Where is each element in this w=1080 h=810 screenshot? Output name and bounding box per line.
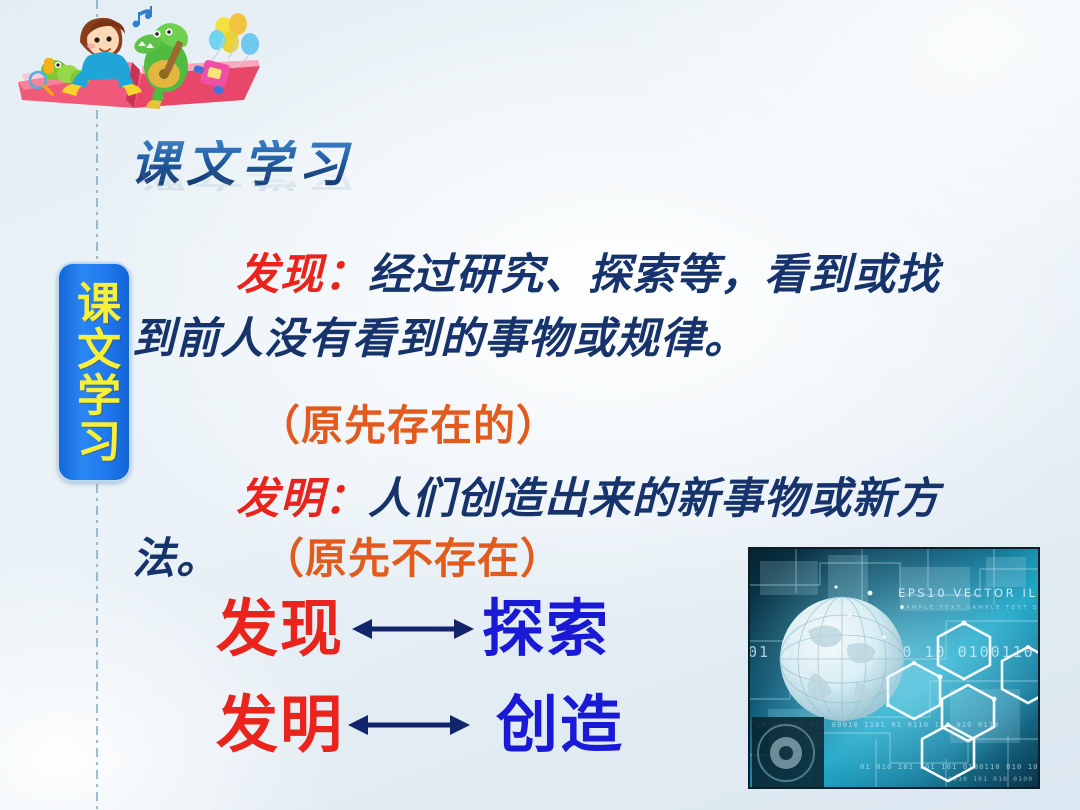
section-label-badge: 课文学习: [57, 262, 131, 482]
photo-caption: EPS10 VECTOR ILLUSTRATION: [898, 586, 1038, 600]
section-label-text: 课文学习: [71, 280, 117, 464]
relation-left-faming: 发明: [216, 694, 344, 756]
definition-two-line-two-row: 法。 （原先不存在）: [132, 528, 732, 592]
relation-left-faxian: 发现: [216, 598, 344, 660]
technology-globe-image: 01 110 011 0 10 10 0100110 010 1010 1010…: [748, 547, 1040, 789]
page-title-reflection: 课文学习: [130, 164, 354, 191]
definition-two-note: （原先不存在）: [262, 533, 563, 586]
definition-two-line-one: 发明：人们创造出来的新事物或新方: [132, 468, 1042, 532]
dial-shape: [752, 717, 824, 787]
definition-one-line-two: 到前人没有看到的事物或规律。: [132, 308, 1042, 372]
svg-text:0010 101 010 0100 10 011 010: 0010 101 010 0100 10 011 010: [948, 775, 1038, 783]
definition-two-block: 发明：人们创造出来的新事物或新方: [132, 468, 1042, 532]
definition-one-block: 发现：经过研究、探索等，看到或找 到前人没有看到的事物或规律。: [132, 244, 1042, 371]
relation-row-invention: 发明 创造: [216, 694, 624, 756]
definition-two-text-one: 人们创造出来的新事物或新方: [368, 474, 940, 524]
double-headed-arrow-icon: [350, 598, 476, 660]
globe-shape: [780, 597, 904, 721]
relation-row-discovery: 发现 探索: [216, 598, 610, 660]
relation-right-tansuo: 探索: [482, 598, 610, 660]
term-faming: 发明：: [236, 474, 368, 524]
double-headed-arrow-icon-2: [346, 694, 472, 756]
definition-one-text-one: 经过研究、探索等，看到或找: [368, 250, 940, 300]
relation-right-chuangzao: 创造: [496, 694, 624, 756]
photo-subcaption: SAMPLE TEXT SAMPLE TEXT SAMPLE TEXT: [900, 605, 1038, 611]
slide-canvas: 课文学习 课文学习 课文学习 发现：经过研究、探索等，看到或找 到前人没有看到的…: [0, 0, 1080, 810]
definition-two-line-two: 法。: [132, 528, 220, 592]
definition-one-note: （原先存在的）: [258, 400, 559, 453]
definition-one-line-one: 发现：经过研究、探索等，看到或找: [132, 244, 1042, 308]
term-faxian: 发现：: [236, 250, 368, 300]
boy-on-flying-book-illustration: [14, 4, 274, 129]
svg-text:01 010 101 101 101 0100110 010: 01 010 101 101 101 0100110 010 1010 0101: [860, 763, 1038, 771]
page-title: 课文学习 课文学习: [130, 140, 354, 226]
music-notes-icon: [133, 6, 152, 27]
